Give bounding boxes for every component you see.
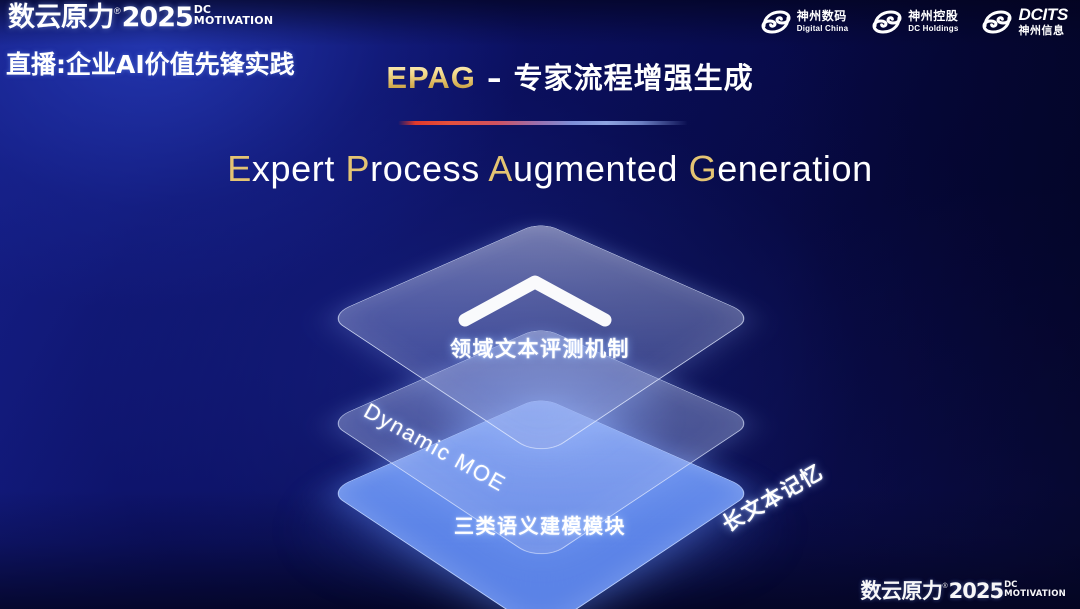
stack-layer-middle-plate: [327, 327, 754, 563]
footer-brand-motivation-text: MOTIVATION: [1004, 590, 1066, 600]
stack-layer-top-plate: [327, 222, 754, 458]
swoosh-logo-icon: [761, 9, 791, 35]
swoosh-logo-icon: [982, 9, 1012, 35]
logo-text-dcits: DCITS 神州信息: [1018, 6, 1068, 37]
subtitle-word-expert: xpert: [252, 148, 346, 189]
stack-layer-bottom-plate: [327, 397, 754, 609]
gradient-divider: [398, 121, 688, 125]
stack-layer-bottom: [390, 340, 690, 609]
stack-layer-top: [390, 165, 690, 465]
page-title: EPAG – 专家流程增强生成: [0, 55, 1080, 97]
logo-dcits: DCITS 神州信息: [982, 6, 1068, 37]
stack-bottom-glow: [300, 455, 780, 605]
subtitle-cap-e: E: [227, 148, 252, 189]
footer-brand-name-cn: 数云原力: [861, 580, 943, 603]
registered-mark-icon: ®: [114, 5, 121, 17]
stack-label-dynamic-moe: Dynamic MOE: [359, 398, 510, 497]
corporate-logo-group: 神州数码 Digital China 神州控股 DC Holdings DCIT…: [761, 6, 1068, 37]
brand-motivation-text: MOTIVATION: [194, 15, 273, 27]
subtitle-word-process: rocess: [370, 148, 488, 189]
logo-cn-name: 神州数码: [797, 10, 849, 22]
logo-dc-holdings: 神州控股 DC Holdings: [872, 9, 958, 35]
brand-logo: 数云原力 ® 2025 DC MOTIVATION: [8, 3, 273, 33]
footer-registered-mark-icon: ®: [943, 582, 948, 591]
logo-en-name: DCITS: [1018, 6, 1068, 23]
subtitle-cap-g: G: [689, 148, 718, 189]
subtitle-word-augmented: ugmented: [513, 148, 689, 189]
stack-label-long-text-memory: 长文本记忆: [716, 456, 828, 538]
stack-label-bottom: 三类语义建模模块: [0, 510, 1080, 539]
logo-text-dc-holdings: 神州控股 DC Holdings: [908, 10, 958, 33]
logo-digital-china: 神州数码 Digital China: [761, 9, 849, 35]
brand-dc-motivation: DC MOTIVATION: [194, 4, 273, 27]
logo-en-name: DC Holdings: [908, 25, 958, 33]
logo-text-digital-china: 神州数码 Digital China: [797, 10, 849, 33]
chevron-up-icon: [455, 272, 615, 332]
footer-brand-dc-motivation: DC MOTIVATION: [1004, 581, 1066, 599]
brand-name-cn: 数云原力: [8, 3, 114, 33]
footer-watermark-logo: 数云原力 ® 2025 DC MOTIVATION: [861, 580, 1067, 603]
stack-layer-middle: [390, 270, 690, 570]
slide-canvas: 数云原力 ® 2025 DC MOTIVATION 直播:企业AI价值先锋实践 …: [0, 0, 1080, 609]
subtitle-cap-a: A: [488, 148, 513, 189]
subtitle-cap-p: P: [346, 148, 371, 189]
subtitle: Expert Process Augmented Generation: [0, 148, 1080, 190]
logo-en-name: Digital China: [797, 25, 849, 33]
logo-cn-name: 神州控股: [908, 10, 958, 22]
swoosh-logo-icon: [872, 9, 902, 35]
page-title-chinese: – 专家流程增强生成: [476, 61, 754, 95]
footer-brand-year: 2025: [949, 580, 1003, 603]
page-title-acronym: EPAG: [386, 60, 476, 95]
stack-core-glow: [432, 352, 672, 482]
stack-label-top: 领域文本评测机制: [0, 333, 1080, 363]
subtitle-word-generation: eneration: [717, 148, 873, 189]
logo-cn-name: 神州信息: [1018, 25, 1068, 37]
brand-year: 2025: [122, 3, 193, 33]
